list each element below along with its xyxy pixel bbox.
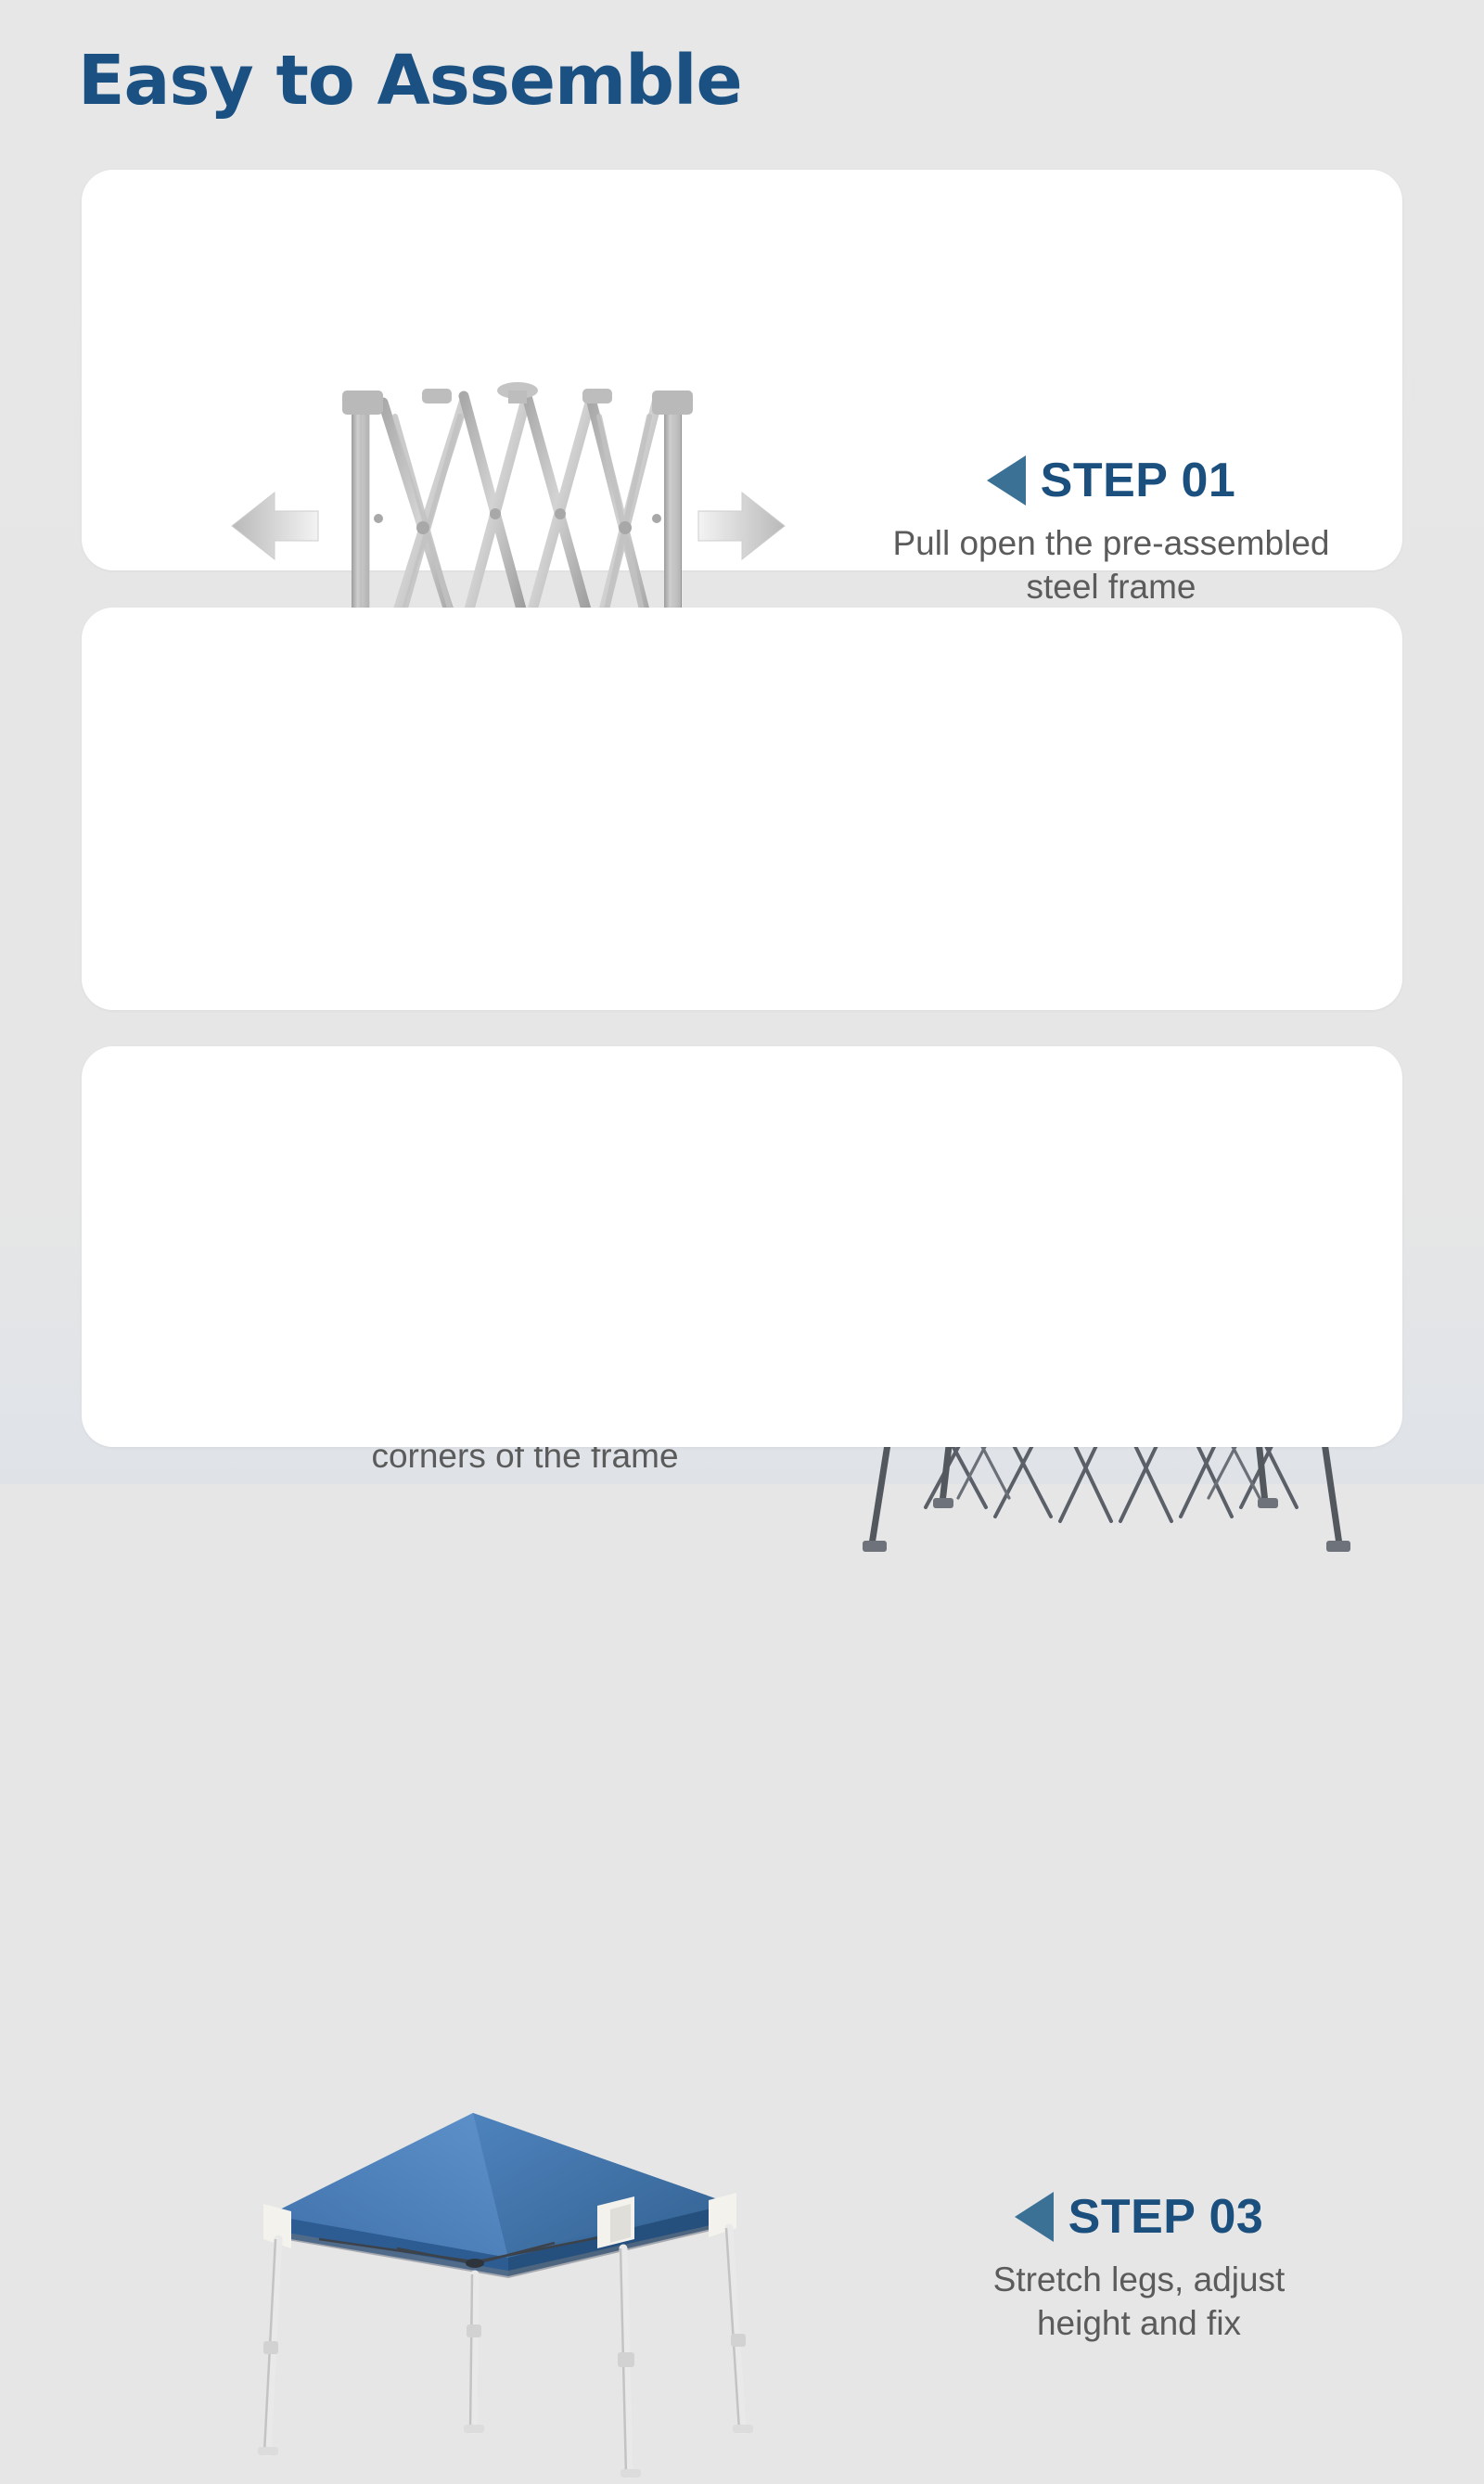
step-1-description: Pull open the pre-assembled steel frame: [814, 521, 1408, 609]
step-3-desc-line-2: height and fix: [879, 2301, 1399, 2345]
step-card-3: STEP 03 Stretch legs, adjust height and …: [82, 1046, 1402, 1447]
triangle-left-icon: [987, 455, 1026, 506]
step-1-title: STEP 01: [1041, 456, 1236, 505]
arrow-left-icon: [232, 493, 318, 559]
step-1-desc-line-1: Pull open the pre-assembled: [814, 521, 1408, 565]
step-3-title: STEP 03: [1068, 2193, 1264, 2241]
step-3-desc-line-1: Stretch legs, adjust: [879, 2258, 1399, 2301]
step-1-heading: STEP 01: [814, 453, 1408, 508]
step-card-2: STEP 02 Place the fabric at the four cor…: [82, 608, 1402, 1010]
step-3-description: Stretch legs, adjust height and fix: [879, 2258, 1399, 2346]
step-1-desc-line-2: steel frame: [814, 565, 1408, 608]
infographic-page: Easy to Assemble: [0, 0, 1484, 1484]
step-1-text-block: STEP 01 Pull open the pre-assembled stee…: [814, 453, 1408, 609]
triangle-left-icon: [1015, 2192, 1054, 2242]
assembled-canopy-illustration: [230, 2085, 787, 2484]
step-3-text-block: STEP 03 Stretch legs, adjust height and …: [879, 2189, 1399, 2346]
page-title: Easy to Assemble: [78, 41, 742, 121]
step-3-heading: STEP 03: [879, 2189, 1399, 2245]
arrow-right-icon: [698, 493, 785, 559]
step-card-1: STEP 01 Pull open the pre-assembled stee…: [82, 170, 1402, 570]
